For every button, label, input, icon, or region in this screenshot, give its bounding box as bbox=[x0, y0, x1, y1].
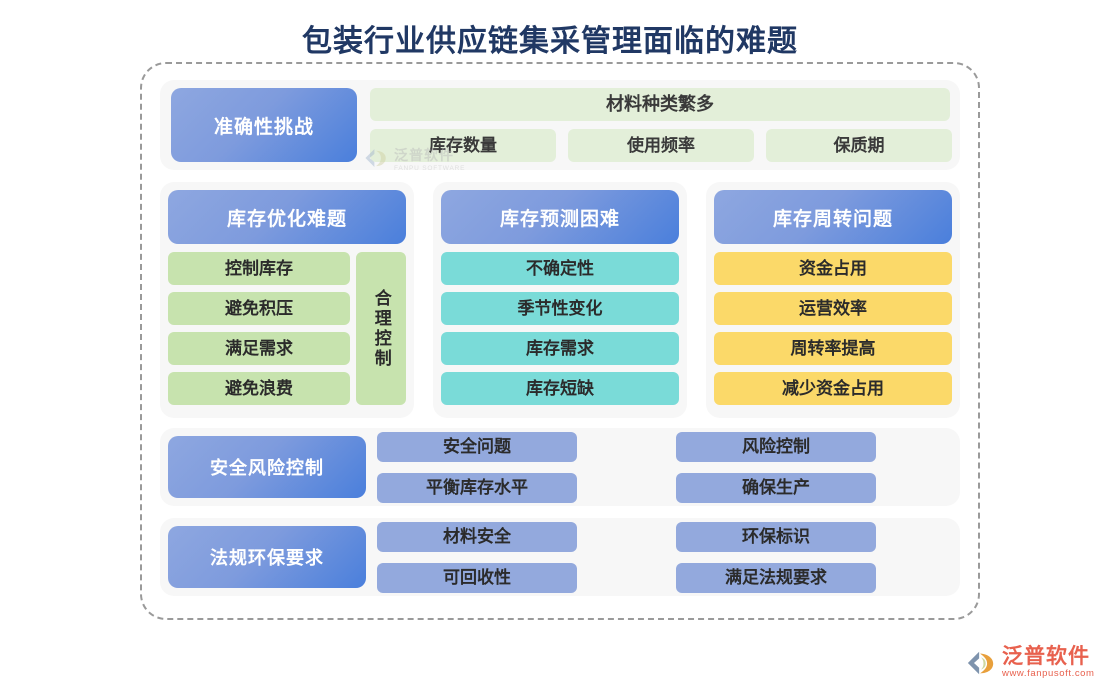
logo-url: www.fanpusoft.com bbox=[1002, 668, 1095, 679]
chip-meet-demand[interactable]: 满足需求 bbox=[168, 332, 350, 365]
chip-recyclability[interactable]: 可回收性 bbox=[377, 563, 577, 593]
header-safety-risk-control[interactable]: 安全风险控制 bbox=[168, 436, 366, 498]
chip-inventory-demand[interactable]: 库存需求 bbox=[441, 332, 679, 365]
infographic-page: 包装行业供应链集采管理面临的难题 准确性挑战 材料种类繁多 库存数量 使用频率 … bbox=[0, 0, 1100, 700]
chip-eco-label[interactable]: 环保标识 bbox=[676, 522, 876, 552]
chip-seasonal-change[interactable]: 季节性变化 bbox=[441, 292, 679, 325]
chip-reduce-capital-occupation[interactable]: 减少资金占用 bbox=[714, 372, 952, 405]
chip-reasonable-control[interactable]: 合理控制 bbox=[356, 252, 406, 405]
chip-meet-regulations[interactable]: 满足法规要求 bbox=[676, 563, 876, 593]
header-inventory-optimization[interactable]: 库存优化难题 bbox=[168, 190, 406, 244]
chip-usage-frequency[interactable]: 使用频率 bbox=[568, 129, 754, 162]
chip-material-safety[interactable]: 材料安全 bbox=[377, 522, 577, 552]
header-inventory-forecast[interactable]: 库存预测困难 bbox=[441, 190, 679, 244]
chip-safety-issue[interactable]: 安全问题 bbox=[377, 432, 577, 462]
header-inventory-turnover[interactable]: 库存周转问题 bbox=[714, 190, 952, 244]
footer-logo: 泛普软件 www.fanpusoft.com bbox=[966, 646, 1095, 679]
chip-shelf-life[interactable]: 保质期 bbox=[766, 129, 952, 162]
header-regulation-environment[interactable]: 法规环保要求 bbox=[168, 526, 366, 588]
chip-operating-efficiency[interactable]: 运营效率 bbox=[714, 292, 952, 325]
chip-material-variety[interactable]: 材料种类繁多 bbox=[370, 88, 950, 121]
chip-capital-occupation[interactable]: 资金占用 bbox=[714, 252, 952, 285]
chip-stock-quantity[interactable]: 库存数量 bbox=[370, 129, 556, 162]
page-title: 包装行业供应链集采管理面临的难题 bbox=[0, 16, 1100, 60]
header-accuracy-challenge[interactable]: 准确性挑战 bbox=[171, 88, 357, 162]
chip-avoid-overstock[interactable]: 避免积压 bbox=[168, 292, 350, 325]
fanpu-logo-icon bbox=[966, 648, 996, 678]
chip-uncertainty[interactable]: 不确定性 bbox=[441, 252, 679, 285]
chip-risk-control[interactable]: 风险控制 bbox=[676, 432, 876, 462]
chip-inventory-shortage[interactable]: 库存短缺 bbox=[441, 372, 679, 405]
chip-balance-inventory-level[interactable]: 平衡库存水平 bbox=[377, 473, 577, 503]
chip-ensure-production[interactable]: 确保生产 bbox=[676, 473, 876, 503]
chip-avoid-waste[interactable]: 避免浪费 bbox=[168, 372, 350, 405]
logo-cn: 泛普软件 bbox=[1002, 646, 1095, 668]
chip-control-inventory[interactable]: 控制库存 bbox=[168, 252, 350, 285]
chip-turnover-improvement[interactable]: 周转率提高 bbox=[714, 332, 952, 365]
